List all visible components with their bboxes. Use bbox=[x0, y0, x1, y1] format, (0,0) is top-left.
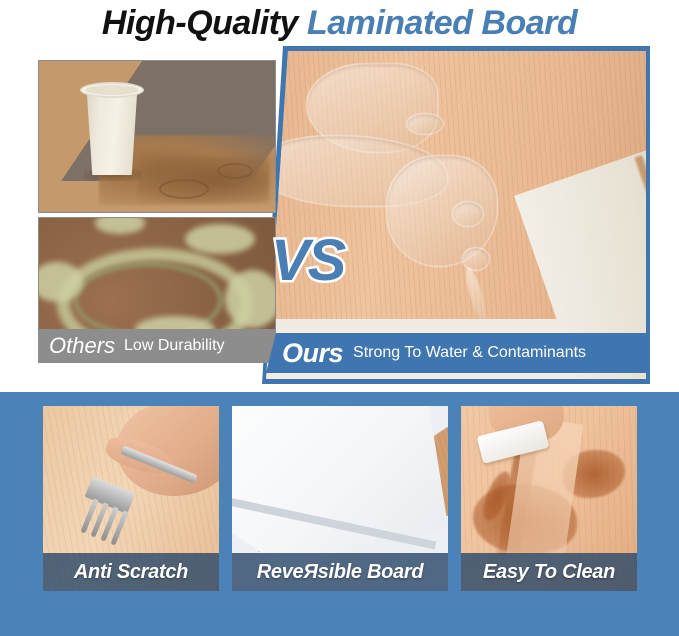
stain-ring bbox=[159, 179, 209, 199]
cup-interior bbox=[85, 85, 139, 95]
mold-patch bbox=[185, 224, 255, 254]
page-title: High-Quality Laminated Board bbox=[0, 2, 679, 44]
ours-title: Ours bbox=[282, 338, 343, 369]
water-droplet bbox=[452, 201, 484, 227]
product-infographic: High-Quality Laminated Board bbox=[0, 0, 679, 636]
others-caption: Low Durability bbox=[124, 337, 224, 355]
others-photo-mold bbox=[38, 217, 276, 337]
feature-card-anti-scratch: Anti Scratch bbox=[43, 406, 219, 591]
stain-ring bbox=[217, 163, 253, 179]
vs-badge: VS bbox=[271, 232, 344, 290]
comparison-section: Others Low Durability Ours Strong To Wat… bbox=[0, 46, 679, 386]
feature-card-easy-to-clean: Easy To Clean bbox=[461, 406, 637, 591]
mold-patch bbox=[225, 270, 276, 328]
water-droplet bbox=[406, 113, 444, 135]
feature-card-list: Anti Scratch ReveЯsible Board Easy To Cl… bbox=[0, 392, 679, 636]
feature-label: Easy To Clean bbox=[461, 553, 637, 591]
ours-photo-water-beading bbox=[266, 51, 646, 379]
others-title: Others bbox=[49, 333, 115, 359]
feature-card-reversible-board: ReveЯsible Board bbox=[232, 406, 448, 591]
others-label-bar: Others Low Durability bbox=[38, 329, 276, 363]
liquid-stain-dark bbox=[139, 157, 269, 203]
feature-label: ReveЯsible Board bbox=[232, 553, 448, 591]
ours-label-bar: Ours Strong To Water & Contaminants bbox=[266, 333, 646, 373]
page-title-part2: Laminated Board bbox=[307, 4, 577, 42]
features-section: Anti Scratch ReveЯsible Board Easy To Cl… bbox=[0, 392, 679, 636]
page-title-part1: High-Quality bbox=[102, 4, 307, 42]
paper-cup bbox=[83, 87, 141, 175]
feature-label: Anti Scratch bbox=[43, 553, 219, 591]
others-photo-cup-spill bbox=[38, 60, 276, 213]
ours-caption: Strong To Water & Contaminants bbox=[353, 344, 586, 362]
